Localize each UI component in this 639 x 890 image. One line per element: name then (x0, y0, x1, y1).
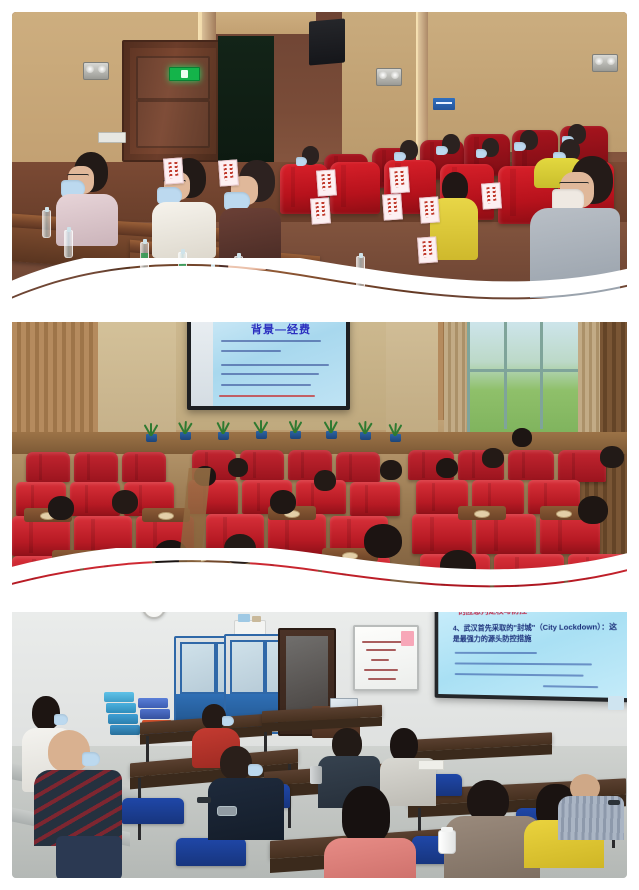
wooden-door (122, 40, 224, 162)
slide-text-line-3 (221, 364, 329, 366)
glass-cup (217, 806, 237, 816)
aud-seat-r1-7 (336, 452, 380, 482)
collage-panel-top (0, 10, 639, 302)
aud-seat-r1-11 (558, 450, 606, 482)
stool-6 (140, 709, 170, 719)
potted-plant-6 (320, 417, 342, 439)
aud-seat-r4-7 (494, 554, 564, 592)
slide-body-line-1 (455, 652, 537, 654)
slide-sidebar (191, 316, 213, 406)
seat-name-card-2 (218, 159, 239, 186)
blue-wall-sign (433, 98, 455, 110)
water-bottle-7 (356, 256, 365, 288)
slide-text-line-5 (221, 384, 311, 386)
doorway-opening (218, 36, 274, 162)
ceiling-speaker (309, 18, 345, 65)
aud-seat-r1-1 (26, 452, 70, 482)
seat-number-plate-5 (474, 510, 490, 518)
emergency-light (83, 62, 109, 80)
seat-number-plate-4 (342, 552, 358, 560)
lab-cabinet-right-glass-1 (230, 640, 265, 694)
water-bottle-5 (208, 267, 217, 295)
basket-item-2 (252, 616, 261, 622)
slide-text-line-4 (221, 373, 319, 375)
collage-panel-middle: 背景—经费 (0, 300, 639, 592)
window-mullion-h (470, 369, 578, 372)
seat-name-card-6 (389, 166, 410, 193)
seat-name-card-4 (316, 169, 337, 196)
curtain-left (444, 312, 466, 442)
aud-seat-r1-3 (122, 452, 166, 482)
whiteboard-writing-1 (362, 641, 402, 643)
attendee-head-10 (482, 448, 504, 468)
slide-title: 背景—经费 (251, 321, 311, 337)
wall-plate (98, 132, 126, 143)
seat-name-card-8 (481, 182, 502, 209)
thermos-flask (438, 830, 456, 854)
whiteboard (353, 625, 419, 691)
whiteboard-writing-3 (371, 659, 389, 661)
window-mullion-v1 (504, 317, 507, 429)
window-mullion-v2 (540, 317, 543, 429)
window-wall (467, 314, 587, 438)
stool-1 (104, 692, 134, 702)
photo-collage: 背景—经费 (0, 0, 639, 890)
aud-seat-r2-7 (350, 482, 400, 516)
stool-3 (108, 714, 138, 724)
stool-5 (138, 698, 168, 708)
blue-chair-6 (176, 838, 246, 866)
attendee-head-5 (270, 490, 296, 514)
whiteboard-writing-5 (368, 678, 396, 680)
seat-mid-2 (330, 162, 380, 214)
water-bottle-2 (64, 230, 73, 258)
auditorium-front-photo (12, 12, 627, 302)
curtain-right (578, 306, 600, 446)
slide-highlight-line (219, 395, 315, 397)
aud-seat-r3-5 (268, 514, 326, 554)
slide-body-line-2 (455, 662, 592, 664)
wall-clock (142, 595, 166, 619)
emergency-light-right (376, 68, 402, 86)
blue-chair-2 (122, 798, 184, 824)
mobile-phone (197, 797, 211, 803)
projection-screen-auditorium: 背景—经费 (187, 312, 350, 410)
attendee-head-9 (436, 458, 458, 478)
water-bottle-4 (178, 252, 187, 280)
water-bottle-1 (42, 210, 51, 238)
aud-seat-r4-8 (568, 554, 627, 592)
slide-text-line-2 (221, 350, 281, 352)
seat-number-plate-7 (72, 554, 88, 562)
attendee-head-16 (224, 534, 256, 564)
whiteboard-writing-4 (364, 669, 398, 671)
collage-panel-bottom: 的应急判定权与防控 4、武汉首先采取的"封城"（City Lockdown）：这… (0, 588, 639, 890)
attendee-head-11 (512, 428, 532, 447)
aud-seat-r1-2 (74, 452, 118, 482)
aud-seat-r3-7 (412, 514, 472, 554)
projection-screen-classroom: 的应急判定权与防控 4、武汉首先采取的"封城"（City Lockdown）：这… (435, 594, 627, 703)
potted-plant-5 (284, 417, 306, 439)
potted-plant-1 (140, 420, 162, 442)
basket-item-1 (238, 614, 250, 622)
attendee-head-1 (48, 496, 74, 520)
wall-panel-right-mid (386, 300, 438, 440)
mobile-phone-2 (608, 800, 620, 805)
seat-name-card-1 (163, 157, 184, 184)
auditorium-wide-photo: 背景—经费 (12, 300, 627, 592)
attendee-head-13 (600, 446, 624, 468)
aud-seat-r4-4 (250, 554, 318, 592)
potted-plant-4 (250, 417, 272, 439)
seat-number-plate-2 (158, 512, 174, 520)
potted-plant-3 (212, 418, 234, 440)
sticky-note (401, 631, 414, 646)
aud-seat-r3-8 (476, 514, 536, 554)
potted-plant-8 (384, 420, 406, 442)
seat-name-card-3 (310, 197, 331, 224)
attendee-head-7 (364, 524, 402, 558)
stool-2 (106, 703, 136, 713)
potted-plant-2 (174, 418, 196, 440)
attendee-head-15 (440, 550, 476, 582)
slide-footer-line (543, 685, 598, 687)
aud-seat-r1-10 (508, 450, 554, 480)
slide-text-line-1 (221, 340, 321, 342)
wall-panel-left-mid (98, 300, 176, 440)
attendee-head-4 (228, 458, 248, 477)
seat-name-card-7 (419, 196, 440, 223)
attendee-head-2 (112, 490, 138, 514)
wall-slats-left (12, 300, 98, 450)
seat-name-card-5 (382, 193, 403, 220)
whiteboard-writing-2 (366, 649, 396, 651)
notebook (418, 760, 444, 770)
exit-sign (169, 67, 200, 81)
attendee-head-6 (314, 470, 336, 491)
seat-number-plate-6 (556, 510, 572, 518)
wall-panel-upper-mid (216, 12, 316, 34)
slide-bullet: 4、武汉首先采取的"封城"（City Lockdown）：这是最强力的源头防控措… (453, 621, 617, 644)
stacked-books (228, 260, 266, 270)
seat-name-card-9 (417, 236, 438, 263)
classroom-photo: 的应急判定权与防控 4、武汉首先采取的"封城"（City Lockdown）：这… (12, 588, 627, 878)
wall-socket-panel (608, 696, 624, 710)
attendee-head-8 (380, 460, 402, 480)
metal-cup (310, 766, 322, 784)
stool-4 (110, 725, 140, 735)
emergency-light-far-right (592, 54, 618, 72)
lab-cabinet-left-glass-1 (180, 642, 216, 694)
water-bottle-3 (140, 242, 149, 270)
slide-body-line-3 (455, 673, 584, 676)
potted-plant-7 (354, 418, 376, 440)
attendee-head-12 (578, 496, 608, 524)
slide-heading: 的应急判定权与防控 (458, 605, 527, 617)
